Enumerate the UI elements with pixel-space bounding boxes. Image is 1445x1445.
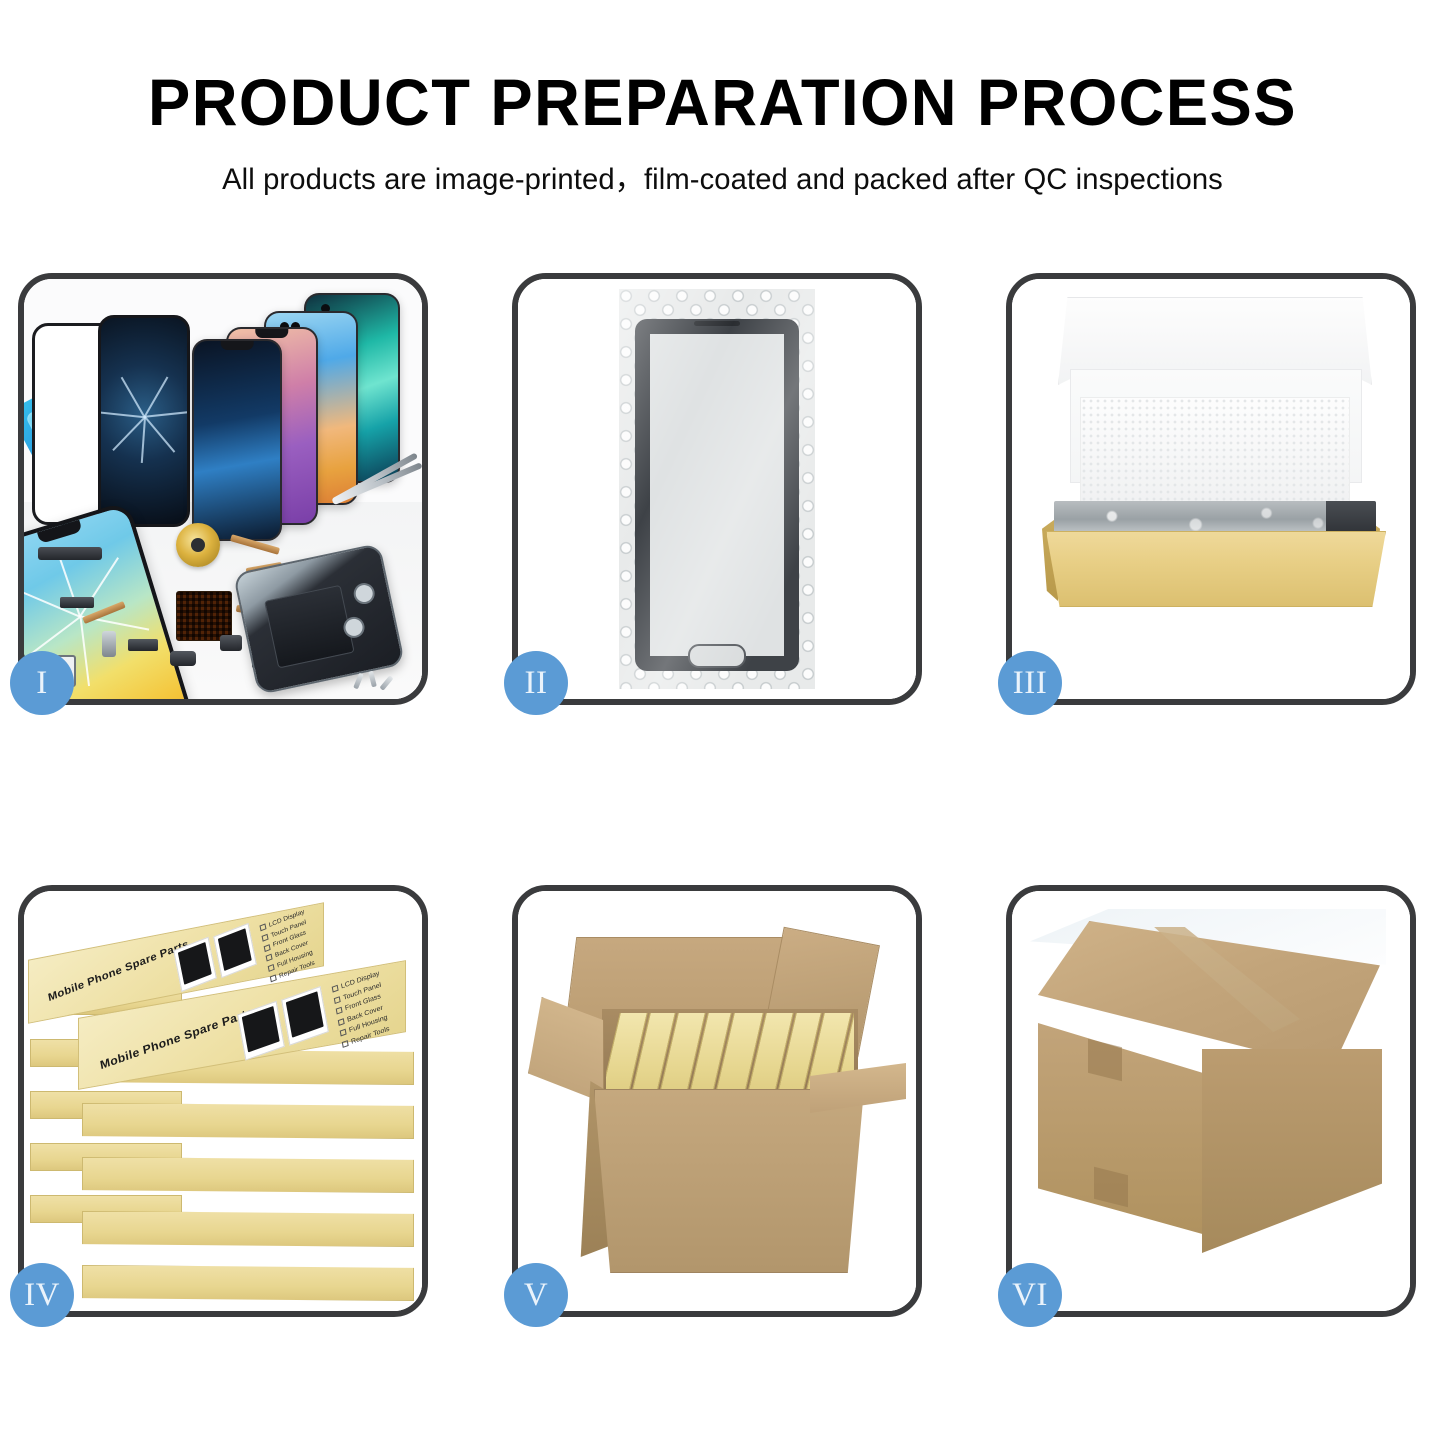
step-panel-bubble-wrapped-screen[interactable]: II bbox=[512, 273, 922, 705]
step-badge-5: V bbox=[504, 1263, 568, 1327]
header: PRODUCT PREPARATION PROCESS All products… bbox=[0, 0, 1445, 198]
connector-part bbox=[60, 597, 94, 608]
connector-part bbox=[128, 639, 158, 651]
bubble-wrap-sheet bbox=[619, 289, 815, 689]
step-badge-1: I bbox=[10, 651, 74, 715]
step-panel-stacked-retail-boxes[interactable]: Mobile Phone Spare Parts LCD Display Tou… bbox=[18, 885, 428, 1317]
box-label-phone-image bbox=[281, 986, 329, 1046]
foam-liner bbox=[1080, 397, 1350, 509]
connector-part bbox=[220, 635, 242, 651]
connector-part bbox=[102, 631, 116, 657]
step-badge-2: II bbox=[504, 651, 568, 715]
step-image-stacked-retail-boxes: Mobile Phone Spare Parts LCD Display Tou… bbox=[24, 891, 422, 1311]
step-panel-sealed-shipping-carton[interactable]: VI bbox=[1006, 885, 1416, 1317]
step-badge-4: IV bbox=[10, 1263, 74, 1327]
earpiece-speaker-part bbox=[38, 547, 102, 560]
step-image-open-shipping-carton bbox=[518, 891, 916, 1311]
box-label-title: Mobile Phone Spare Parts bbox=[99, 1005, 254, 1072]
home-button-cutout bbox=[688, 644, 746, 668]
step-image-boxed-screen bbox=[1012, 279, 1410, 699]
step-image-bubble-wrapped-screen bbox=[518, 279, 916, 699]
wireless-charging-coil-part bbox=[176, 523, 220, 567]
screen-assembly bbox=[635, 319, 799, 671]
page-subtitle: All products are image-printed，film-coat… bbox=[7, 156, 1438, 198]
phone-lineup: 08:08 bbox=[152, 287, 422, 547]
phone-blue bbox=[192, 339, 282, 541]
step-badge-6: VI bbox=[998, 1263, 1062, 1327]
step-panel-open-shipping-carton[interactable]: V bbox=[512, 885, 922, 1317]
box-label-phone-image bbox=[213, 923, 257, 978]
step-image-sealed-shipping-carton bbox=[1012, 891, 1410, 1311]
step-image-parts-collage: 08:08 bbox=[24, 279, 422, 699]
step-panel-boxed-screen[interactable]: III bbox=[1006, 273, 1416, 705]
logic-chip-part bbox=[176, 591, 232, 641]
box-front-wall bbox=[1046, 531, 1386, 607]
connector-part bbox=[170, 651, 196, 666]
step-panel-parts-collage[interactable]: 08:08 bbox=[18, 273, 428, 705]
screws-part bbox=[354, 671, 404, 693]
page-title: PRODUCT PREPARATION PROCESS bbox=[29, 68, 1416, 137]
carton-body bbox=[594, 1089, 864, 1273]
step-badge-3: III bbox=[998, 651, 1062, 715]
process-step-grid: 08:08 bbox=[18, 273, 1427, 1317]
